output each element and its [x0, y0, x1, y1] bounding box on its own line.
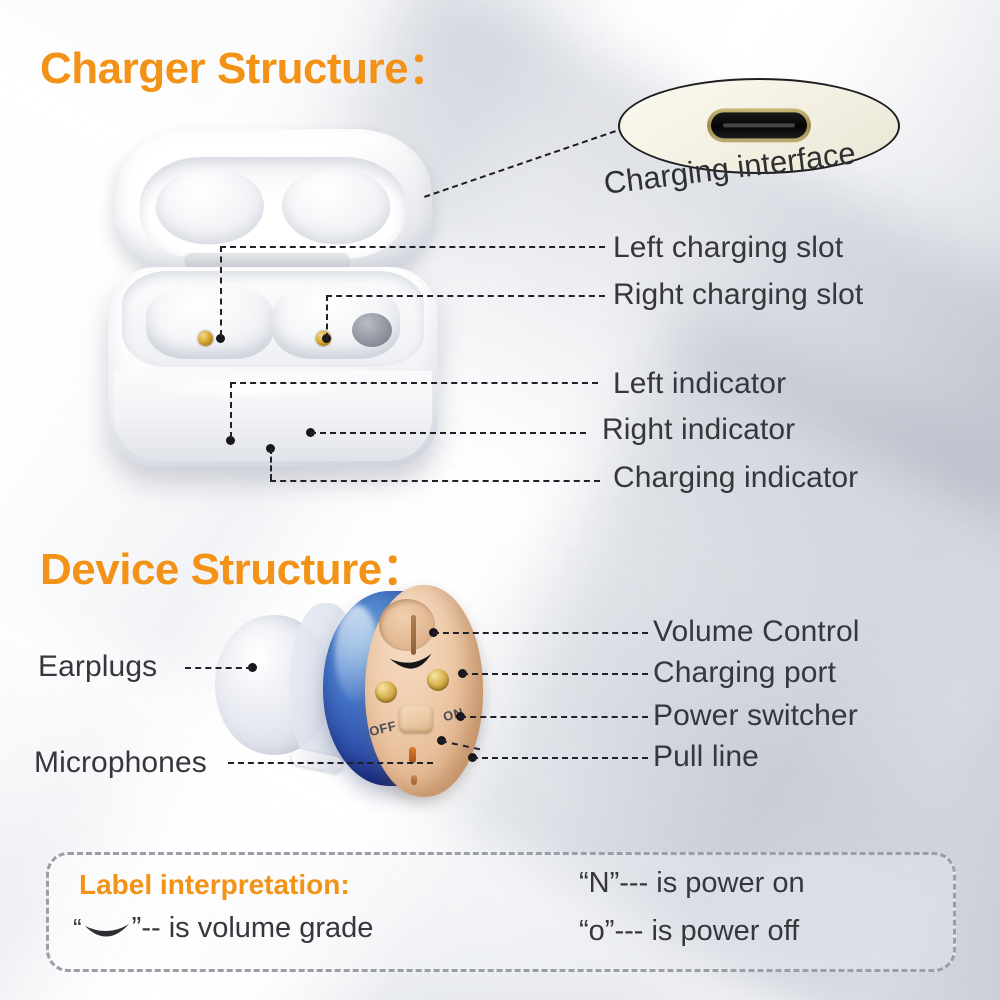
charging-contact-lower — [375, 681, 397, 703]
device-faceplate: OFF ON — [365, 585, 483, 797]
leader-microphones — [228, 762, 433, 764]
label-power-switcher: Power switcher — [653, 699, 858, 733]
case-body — [108, 267, 438, 467]
power-switch-toggle — [399, 705, 433, 733]
legend-title: Label interpretation: — [79, 869, 350, 901]
usb-c-port-icon — [707, 108, 811, 142]
leader-charging-indicator-v — [270, 448, 272, 480]
label-earplugs: Earplugs — [38, 650, 157, 684]
label-right-charging-slot: Right charging slot — [613, 278, 863, 312]
charging-contact-upper — [427, 669, 449, 691]
leader-charging-indicator-h — [270, 480, 600, 482]
label-interpretation-box: Label interpretation: “ ”-- is volume gr… — [46, 852, 956, 972]
label-left-charging-slot: Left charging slot — [613, 231, 843, 265]
legend-volume-grade-row: “ ”-- is volume grade — [73, 912, 373, 945]
leader-power-switcher — [460, 716, 648, 718]
volume-control-slot — [411, 615, 416, 655]
case-lid-inner — [137, 157, 409, 258]
charger-structure-heading: Charger Structure： — [40, 32, 452, 96]
charging-case-illustration — [108, 125, 438, 475]
case-hinge — [186, 253, 348, 268]
label-volume-control: Volume Control — [653, 615, 860, 649]
label-charging-port: Charging port — [653, 656, 836, 690]
label-microphones: Microphones — [34, 746, 207, 780]
legend-power-off-text: “o”--- is power off — [579, 915, 799, 948]
leader-left-charging-slot-h — [220, 246, 605, 248]
case-body-top — [122, 271, 424, 367]
leader-right-charging-slot-h — [326, 295, 605, 297]
volume-control-wheel — [379, 599, 435, 651]
legend-power-on-text: “N”--- is power on — [579, 867, 805, 900]
label-pull-line: Pull line — [653, 740, 759, 774]
legend-power-off-row: “o”--- is power off — [579, 915, 799, 948]
infographic-canvas: Charger Structure： — [0, 0, 1000, 1000]
lid-pocket-right — [282, 168, 392, 244]
label-left-indicator: Left indicator — [613, 367, 786, 401]
legend-volume-grade-text: ”-- is volume grade — [132, 912, 374, 945]
charging-slot-right — [272, 287, 400, 359]
leader-right-indicator-h — [310, 432, 586, 434]
leader-left-indicator-v — [230, 382, 232, 438]
charging-slot-left — [146, 287, 274, 359]
volume-grade-crescent-icon — [84, 923, 130, 943]
leader-left-charging-slot-v — [220, 246, 222, 336]
label-right-indicator: Right indicator — [602, 413, 795, 447]
hearing-aid-illustration: OFF ON — [215, 585, 495, 800]
slot-cavity-right — [352, 313, 392, 347]
leader-charging-port — [462, 673, 648, 675]
legend-power-on-row: “N”--- is power on — [579, 867, 805, 900]
switch-label-off: OFF — [368, 718, 398, 739]
microphone-port — [409, 747, 416, 763]
charging-pin-left — [198, 331, 213, 346]
volume-grade-crescent-icon — [390, 651, 434, 675]
legend-open-quote: “ — [73, 913, 82, 944]
leader-volume-control — [433, 632, 648, 634]
microphone-port-secondary — [411, 775, 417, 785]
leader-right-charging-slot-v — [326, 295, 328, 339]
leader-earplugs — [185, 667, 252, 669]
leader-pull-line — [472, 757, 648, 759]
leader-left-indicator-h — [230, 382, 598, 384]
label-charging-indicator: Charging indicator — [613, 461, 858, 495]
lid-pocket-left — [154, 168, 264, 244]
